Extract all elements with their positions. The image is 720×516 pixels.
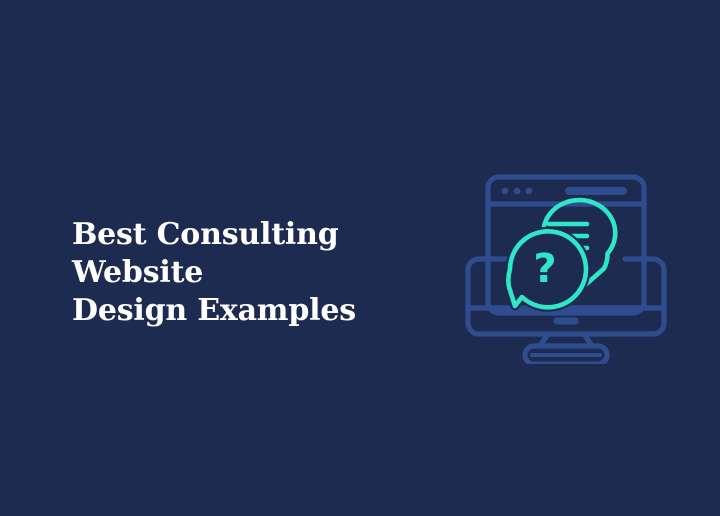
browser-dot-1 (502, 188, 509, 195)
browser-dot-3 (526, 188, 533, 195)
headline-block: Best Consulting Website Design Examples (72, 216, 452, 330)
browser-dot-2 (514, 188, 521, 195)
page-title: Best Consulting Website Design Examples (72, 216, 452, 330)
monitor-chat-icon: ? (452, 146, 680, 364)
monitor-corner-tl (468, 259, 479, 270)
address-bar (565, 187, 627, 195)
monitor-corner-tr (653, 259, 664, 270)
question-mark-glyph: ? (533, 246, 556, 292)
illustration-monitor-chat: ? (452, 146, 680, 364)
speech-bubble-question: ? (508, 231, 586, 307)
browser-dots (502, 188, 533, 195)
banner: Best Consulting Website Design Examples (0, 0, 720, 516)
